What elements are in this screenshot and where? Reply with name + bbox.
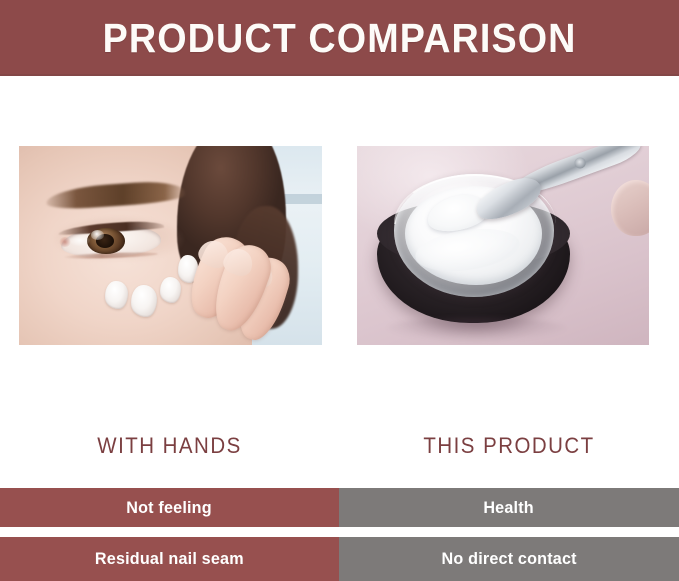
jar-shadow [386,317,567,341]
comparison-table: Not feeling Health Residual nail seam No… [0,486,679,581]
cream-dot [105,281,128,309]
column-label-with-hands: WITH HANDS [12,433,327,459]
eye-closeup-scene [19,146,322,345]
comparison-cell-this-product: Health [339,488,679,527]
with-hands-photo [19,146,322,345]
page-title: PRODUCT COMPARISON [103,18,577,59]
cell-text: Not feeling [127,498,213,518]
column-labels: WITH HANDS THIS PRODUCT [0,421,679,483]
eyebrow [46,179,187,211]
metal-spatula [472,146,646,223]
comparison-cell-with-hands: Not feeling [0,488,339,527]
cream-dot [131,285,157,317]
cell-text: Health [484,498,534,518]
column-label-this-product: THIS PRODUCT [351,433,667,459]
comparison-cell-this-product: No direct contact [339,537,679,581]
comparison-cell-with-hands: Residual nail seam [0,537,339,581]
cell-text: Residual nail seam [95,549,244,569]
table-row: Not feeling Health [0,488,679,527]
header-banner: PRODUCT COMPARISON [0,0,679,76]
spatula-scoop [471,171,546,227]
cream-dot [160,277,181,303]
spatula-detail [574,157,587,169]
table-row: Residual nail seam No direct contact [0,537,679,581]
cell-text: No direct contact [441,549,576,569]
this-product-photo [357,146,649,345]
product-images-row [0,76,679,421]
cream-jar-scene [357,146,649,345]
